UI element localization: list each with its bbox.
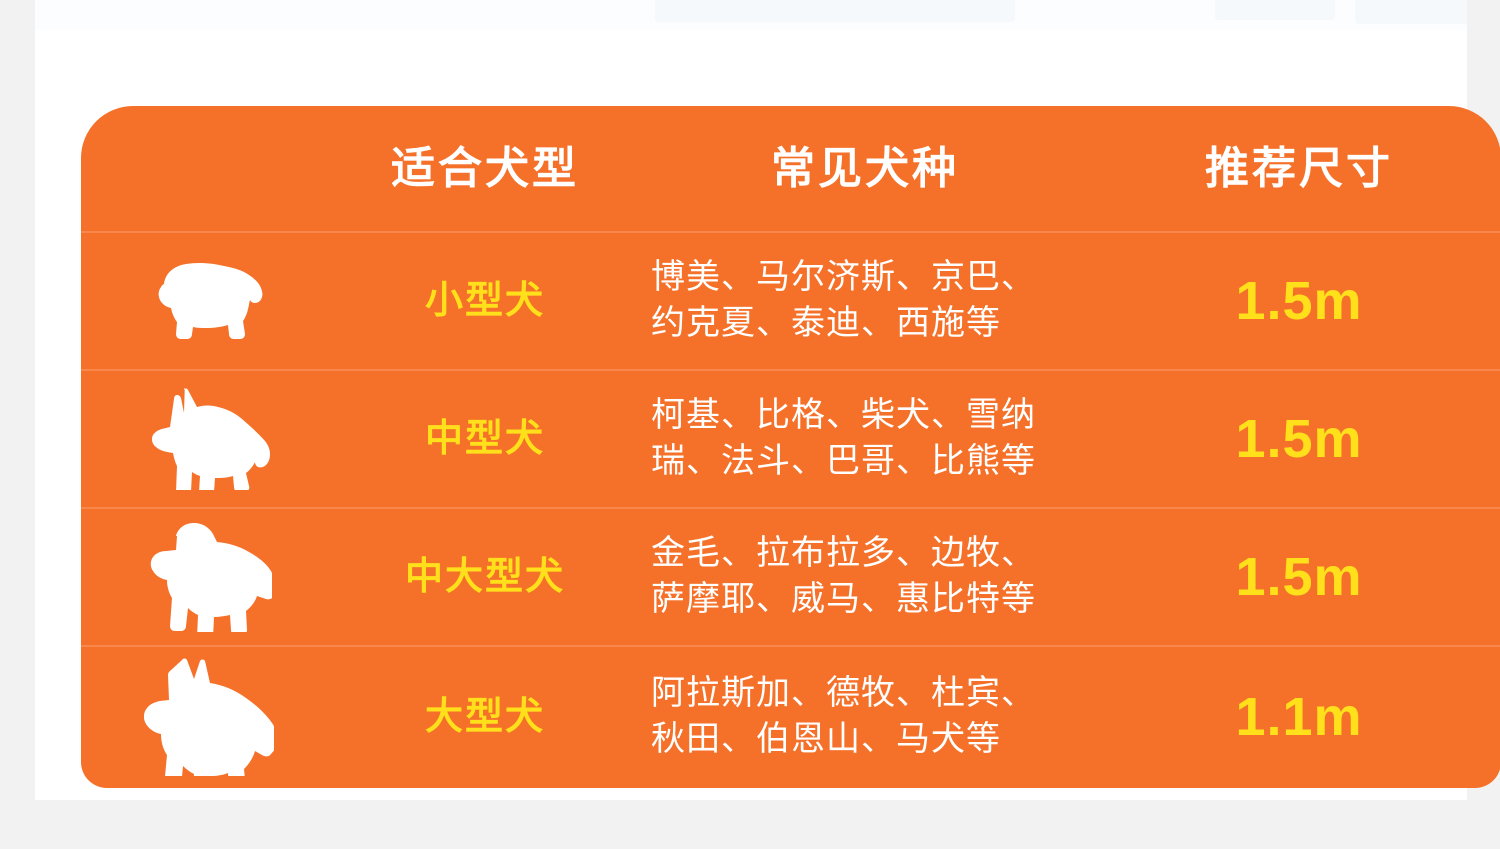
cell-dog-type: 大型犬 [337,698,633,736]
cell-common-breeds: 阿拉斯加、德牧、杜宾、秋田、伯恩山、马犬等 [633,671,1097,762]
header-label-recommended-size: 推荐尺寸 [1205,147,1393,191]
dog-size-table-card: 适合犬型 常见犬种 推荐尺寸 小型犬 博美、马尔济斯、京巴、约克夏、 [81,106,1500,788]
table-row: 大型犬 阿拉斯加、德牧、杜宾、秋田、伯恩山、马犬等 1.1m [81,647,1500,787]
cell-dog-type: 小型犬 [337,282,633,320]
common-breeds-label: 柯基、比格、柴犬、雪纳瑞、法斗、巴哥、比熊等 [651,393,1051,484]
dog-type-label: 大型犬 [425,698,545,736]
ghost-shape [1355,0,1467,24]
table-header-row: 适合犬型 常见犬种 推荐尺寸 [81,106,1500,233]
medium-large-dog-icon [146,522,272,632]
cell-common-breeds: 金毛、拉布拉多、边牧、萨摩耶、威马、惠比特等 [633,531,1097,622]
cell-recommended-size: 1.5m [1097,412,1500,466]
header-cell-common-breeds: 常见犬种 [633,147,1097,191]
common-breeds-label: 阿拉斯加、德牧、杜宾、秋田、伯恩山、马犬等 [651,671,1051,762]
cell-icon [81,258,337,344]
header-label-dog-type: 适合犬型 [391,147,579,191]
cell-icon [81,658,337,776]
cell-common-breeds: 柯基、比格、柴犬、雪纳瑞、法斗、巴哥、比熊等 [633,393,1097,484]
table-row: 中型犬 柯基、比格、柴犬、雪纳瑞、法斗、巴哥、比熊等 1.5m [81,371,1500,509]
header-cell-dog-type: 适合犬型 [337,147,633,191]
cell-icon [81,522,337,632]
table-row: 中大型犬 金毛、拉布拉多、边牧、萨摩耶、威马、惠比特等 1.5m [81,509,1500,647]
table-row: 小型犬 博美、马尔济斯、京巴、约克夏、泰迪、西施等 1.5m [81,233,1500,371]
recommended-size-label: 1.5m [1235,412,1362,466]
recommended-size-label: 1.5m [1235,550,1362,604]
dog-type-label: 中型犬 [425,420,545,458]
ghost-shape [655,0,1015,22]
cell-recommended-size: 1.1m [1097,690,1500,744]
small-dog-icon [150,258,268,344]
dog-type-label: 中大型犬 [405,558,565,596]
recommended-size-label: 1.1m [1235,690,1362,744]
product-detail-page: 适合犬型 常见犬种 推荐尺寸 小型犬 博美、马尔济斯、京巴、约克夏、 [35,0,1467,800]
common-breeds-label: 金毛、拉布拉多、边牧、萨摩耶、威马、惠比特等 [651,531,1051,622]
common-breeds-label: 博美、马尔济斯、京巴、约克夏、泰迪、西施等 [651,255,1051,346]
cell-recommended-size: 1.5m [1097,550,1500,604]
header-cell-recommended-size: 推荐尺寸 [1097,147,1500,191]
cell-recommended-size: 1.5m [1097,274,1500,328]
large-dog-icon [144,658,274,776]
cell-common-breeds: 博美、马尔济斯、京巴、约克夏、泰迪、西施等 [633,255,1097,346]
dog-type-label: 小型犬 [425,282,545,320]
header-label-common-breeds: 常见犬种 [771,147,959,191]
cell-dog-type: 中大型犬 [337,558,633,596]
medium-dog-icon [148,388,270,490]
cell-icon [81,388,337,490]
recommended-size-label: 1.5m [1235,274,1362,328]
ghost-shape [1215,0,1335,20]
cell-dog-type: 中型犬 [337,420,633,458]
clipped-content-above [35,0,1467,30]
